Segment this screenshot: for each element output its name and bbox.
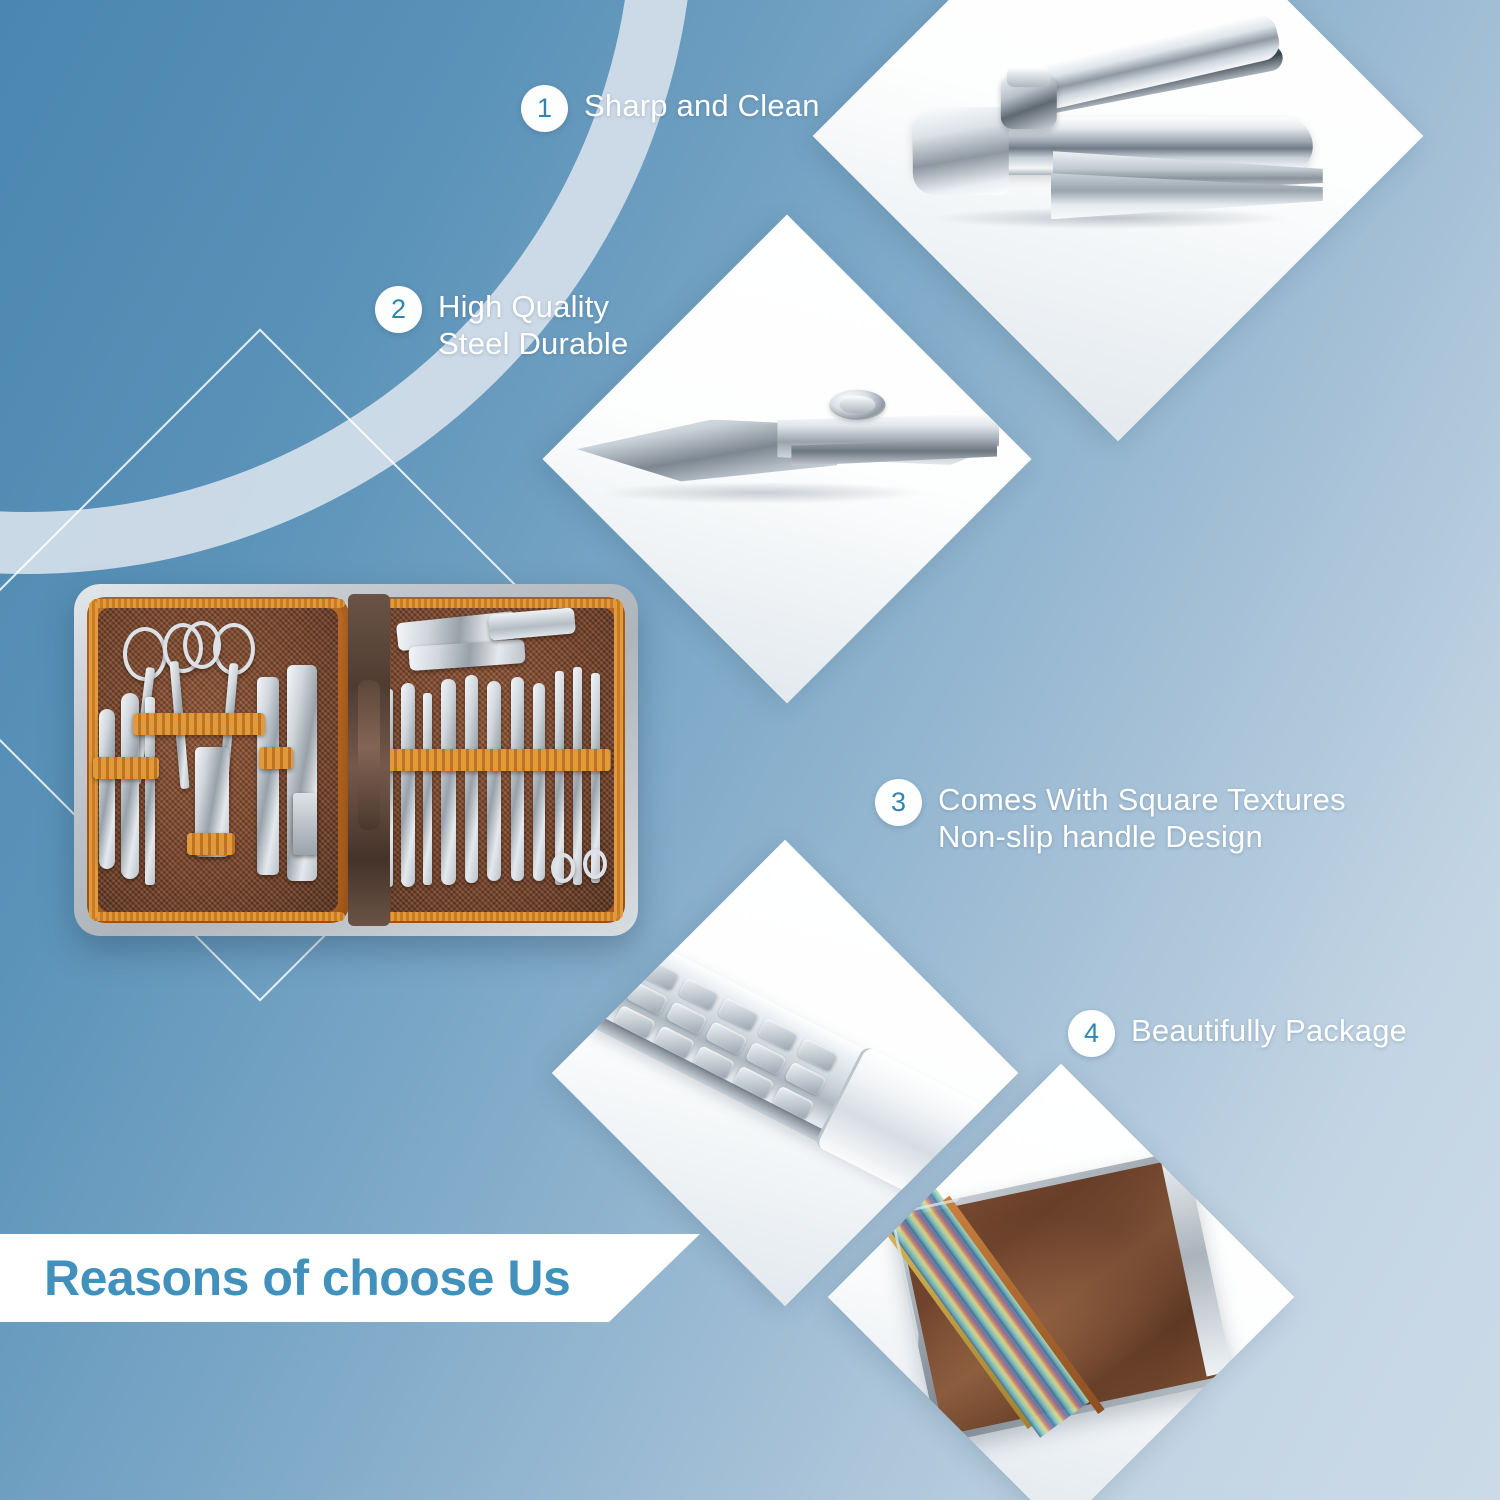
manicure-pedicure-kit-open-case bbox=[74, 584, 638, 936]
feature-number-badge-1: 1 bbox=[521, 85, 568, 132]
feature-number-badge-3: 3 bbox=[875, 779, 922, 826]
feature-text-3: Comes With Square Textures Non-slip hand… bbox=[938, 779, 1346, 855]
feature-number-badge-4: 4 bbox=[1068, 1010, 1115, 1057]
headline-banner: Reasons of choose Us bbox=[0, 1234, 700, 1322]
feature-label-2: 2 High Quality Steel Durable bbox=[375, 286, 628, 362]
feature-label-4: 4 Beautifully Package bbox=[1068, 1010, 1407, 1057]
feature-text-1: Sharp and Clean bbox=[584, 85, 820, 125]
feature-number-badge-2: 2 bbox=[375, 286, 422, 333]
feature-label-3: 3 Comes With Square Textures Non-slip ha… bbox=[875, 779, 1346, 855]
feature-label-1: 1 Sharp and Clean bbox=[521, 85, 820, 132]
feature-text-2: High Quality Steel Durable bbox=[438, 286, 628, 362]
feature-text-4: Beautifully Package bbox=[1131, 1010, 1407, 1050]
infographic-canvas: 1 Sharp and Clean 2 High Quality Steel D… bbox=[0, 0, 1500, 1500]
headline-text: Reasons of choose Us bbox=[0, 1249, 570, 1307]
